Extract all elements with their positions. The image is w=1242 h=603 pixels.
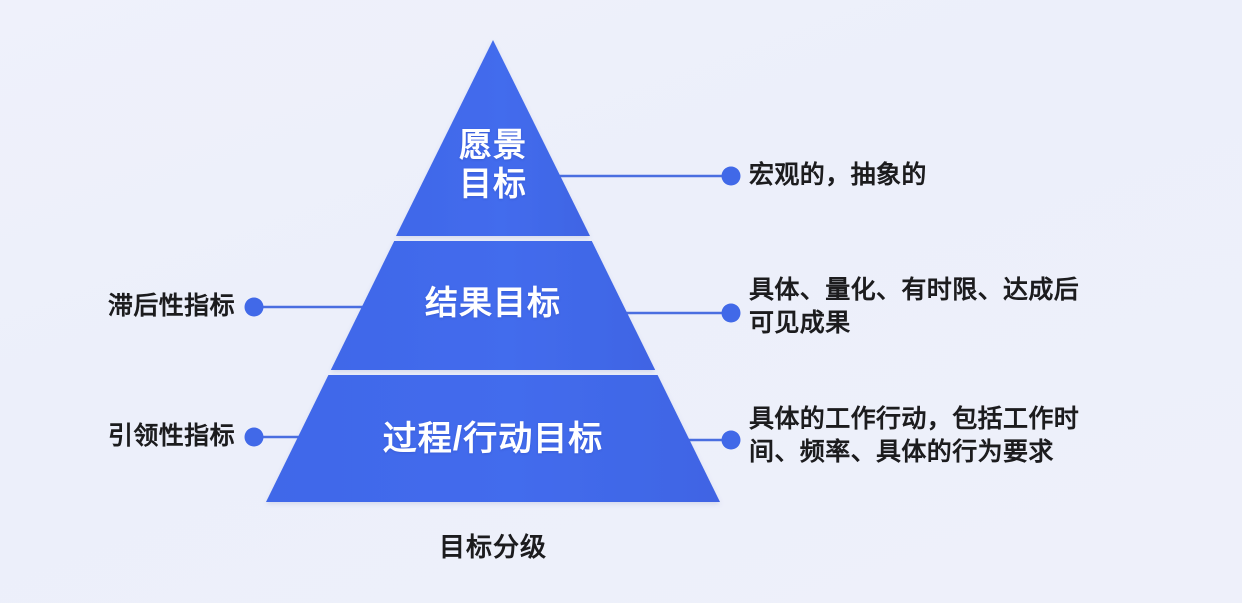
diagram-caption: 目标分级 (373, 527, 613, 564)
connector-dot-leading (245, 428, 264, 447)
pyramid-tier-result[interactable] (331, 241, 655, 370)
callout-lagging-indicator: 滞后性指标 (20, 290, 235, 323)
callout-vision-description: 宏观的，抽象的 (749, 159, 1169, 192)
pyramid-tier-vision[interactable] (396, 40, 590, 236)
connector-dot-vision (722, 167, 741, 186)
connector-dot-lagging (245, 298, 264, 317)
pyramid-tiers (266, 40, 720, 502)
pyramid-tier-process[interactable] (266, 375, 720, 502)
connector-dot-result (722, 304, 741, 323)
callout-leading-indicator: 引领性指标 (20, 420, 235, 453)
pyramid-diagram-canvas: 愿景 目标 结果目标 过程/行动目标 宏观的，抽象的 具体、量化、有时限、达成后… (0, 0, 1242, 603)
callout-result-description: 具体、量化、有时限、达成后 可见成果 (749, 274, 1189, 340)
callout-process-description: 具体的工作行动，包括工作时 间、频率、具体的行为要求 (749, 403, 1199, 469)
connector-dot-process (722, 431, 741, 450)
